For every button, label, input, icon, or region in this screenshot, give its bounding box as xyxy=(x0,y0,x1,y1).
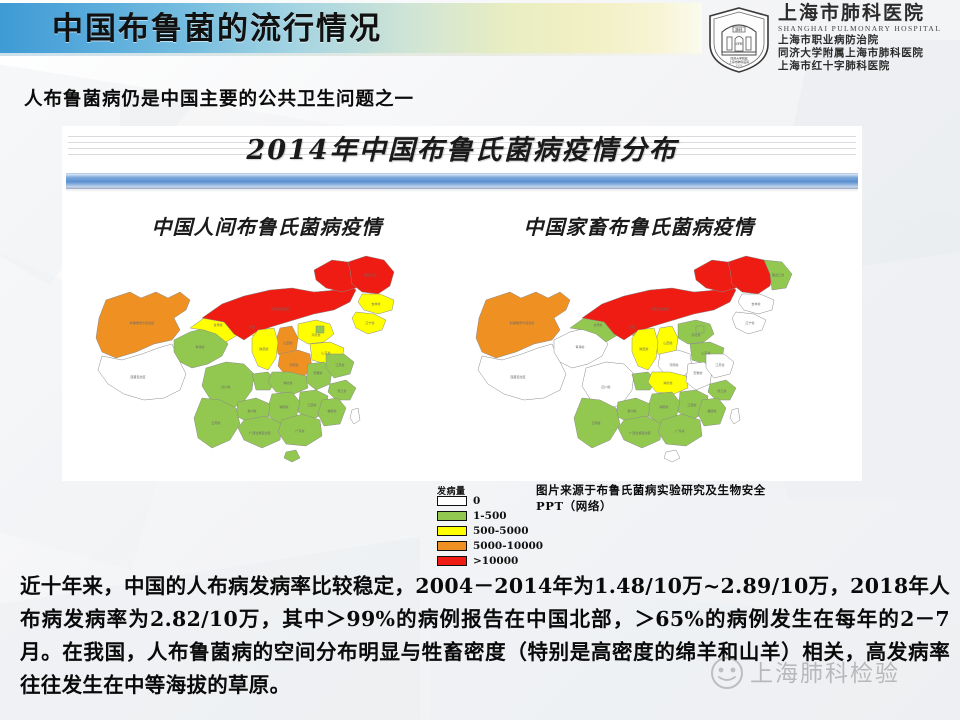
map-caption-human: 中国人间布鲁氏菌病疫情 xyxy=(102,212,432,242)
svg-text:甘肃省: 甘肃省 xyxy=(593,322,602,327)
china-map-human-svg: 新疆维吾尔自治区 西藏自治区 青海省 甘肃省 宁夏 内蒙古自治区 黑龙江省 吉林… xyxy=(94,248,464,463)
svg-text:内蒙古自治区: 内蒙古自治区 xyxy=(271,306,290,311)
legend-row: 0 xyxy=(437,495,547,508)
svg-text:江西省: 江西省 xyxy=(687,402,696,407)
region-hainan xyxy=(664,450,680,462)
svg-text:辽宁省: 辽宁省 xyxy=(745,320,754,325)
svg-text:福建省: 福建省 xyxy=(327,408,336,413)
svg-text:湖北省: 湖北省 xyxy=(663,380,672,385)
svg-text:江苏省: 江苏省 xyxy=(715,362,724,367)
svg-text:新疆维吾尔自治区: 新疆维吾尔自治区 xyxy=(130,320,155,325)
svg-text:湖南省: 湖南省 xyxy=(659,404,668,409)
svg-text:吉林省: 吉林省 xyxy=(371,301,380,306)
legend-swatch-4 xyxy=(437,556,467,566)
svg-text:宁夏: 宁夏 xyxy=(629,324,635,329)
svg-text:陕西省: 陕西省 xyxy=(639,346,648,351)
svg-text:广西壮族自治区: 广西壮族自治区 xyxy=(629,430,651,435)
china-map-livestock: 新疆维吾尔自治区 西藏自治区 青海省 甘肃省 宁夏 内蒙古自治区 黑龙江省 吉林… xyxy=(474,248,844,463)
svg-text:上海市肺科医院: 上海市肺科医院 xyxy=(729,59,749,64)
china-map-human: 新疆维吾尔自治区 西藏自治区 青海省 甘肃省 宁夏 内蒙古自治区 黑龙江省 吉林… xyxy=(94,248,464,463)
svg-text:山东省: 山东省 xyxy=(321,350,330,355)
svg-text:辽宁省: 辽宁省 xyxy=(365,320,374,325)
svg-text:湖北省: 湖北省 xyxy=(283,380,292,385)
shield-building-emblem-icon: 肺科 SPH 同济大学附属 上海市肺科医院 1933 xyxy=(706,6,772,74)
svg-text:安徽省: 安徽省 xyxy=(693,370,702,375)
svg-text:1933: 1933 xyxy=(736,65,743,68)
legend-label-0: 0 xyxy=(473,495,480,508)
svg-text:山西省: 山西省 xyxy=(283,340,292,345)
svg-text:河北省: 河北省 xyxy=(311,332,320,337)
svg-text:河南省: 河南省 xyxy=(289,362,298,367)
legend-swatch-0 xyxy=(437,496,467,506)
svg-text:陕西省: 陕西省 xyxy=(259,346,268,351)
hospital-logo: 肺科 SPH 同济大学附属 上海市肺科医院 1933 上海市肺科医院 SHANG… xyxy=(700,2,958,76)
svg-text:广东省: 广东省 xyxy=(675,428,684,433)
region-taiwan xyxy=(730,408,740,424)
legend-swatch-3 xyxy=(437,541,467,551)
svg-text:云南省: 云南省 xyxy=(211,420,220,425)
legend-swatch-2 xyxy=(437,526,467,536)
svg-text:甘肃省: 甘肃省 xyxy=(213,322,222,327)
svg-text:河南省: 河南省 xyxy=(669,362,678,367)
svg-text:河北省: 河北省 xyxy=(691,332,700,337)
svg-text:吉林省: 吉林省 xyxy=(751,301,760,306)
svg-text:贵州省: 贵州省 xyxy=(627,408,636,413)
source-note-line-1: 图片来源于布鲁氏菌病实验研究及生物安全 xyxy=(536,482,896,498)
logo-alias-1: 上海市职业病防治院 xyxy=(778,34,958,47)
svg-text:新疆维吾尔自治区: 新疆维吾尔自治区 xyxy=(510,320,535,325)
svg-text:广东省: 广东省 xyxy=(295,428,304,433)
svg-text:黑龙江省: 黑龙江省 xyxy=(772,272,784,277)
figure-card: 2014年中国布鲁氏菌病疫情分布 中国人间布鲁氏菌病疫情 中国家畜布鲁氏菌病疫情 xyxy=(62,126,862,481)
svg-text:山西省: 山西省 xyxy=(663,340,672,345)
legend-swatch-1 xyxy=(437,511,467,521)
svg-text:江西省: 江西省 xyxy=(307,402,316,407)
legend-label-2: 500-5000 xyxy=(473,525,529,538)
svg-text:江苏省: 江苏省 xyxy=(335,362,344,367)
map-caption-livestock: 中国家畜布鲁氏菌病疫情 xyxy=(474,212,804,242)
legend-label-3: 5000-10000 xyxy=(473,540,543,553)
svg-text:云南省: 云南省 xyxy=(591,420,600,425)
figure-title: 2014年中国布鲁氏菌病疫情分布 xyxy=(62,131,862,171)
svg-text:山东省: 山东省 xyxy=(701,350,710,355)
legend-row: 500-5000 xyxy=(437,525,547,538)
slide-subtitle: 人布鲁菌病仍是中国主要的公共卫生问题之一 xyxy=(24,87,644,113)
svg-text:贵州省: 贵州省 xyxy=(247,408,256,413)
legend-row: >10000 xyxy=(437,555,547,568)
svg-text:黑龙江省: 黑龙江省 xyxy=(364,272,376,277)
body-paragraph: 近十年来，中国的人布病发病率比较稳定，2004－2014年为1.48/10万~2… xyxy=(20,570,950,715)
svg-text:广西壮族自治区: 广西壮族自治区 xyxy=(249,430,271,435)
china-map-livestock-svg: 新疆维吾尔自治区 西藏自治区 青海省 甘肃省 宁夏 内蒙古自治区 黑龙江省 吉林… xyxy=(474,248,844,463)
svg-text:青海省: 青海省 xyxy=(575,344,584,349)
header-underline xyxy=(0,53,702,56)
logo-hospital-name-cn: 上海市肺科医院 xyxy=(778,3,958,23)
legend-label-1: 1-500 xyxy=(473,510,507,523)
svg-text:四川省: 四川省 xyxy=(221,384,230,389)
page-title: 中国布鲁菌的流行情况 xyxy=(52,8,612,50)
svg-text:肺科: 肺科 xyxy=(735,27,743,32)
source-note-line-2: PPT（网络） xyxy=(536,498,896,514)
slide-canvas: 中国布鲁菌的流行情况 肺科 SPH 同济大学附属 上海市肺科医院 1933 上海… xyxy=(0,0,960,720)
svg-text:安徽省: 安徽省 xyxy=(313,370,322,375)
logo-hospital-name-en: SHANGHAI PULMONARY HOSPITAL xyxy=(778,23,958,34)
figure-divider-shadow xyxy=(66,187,858,192)
svg-text:湖南省: 湖南省 xyxy=(279,404,288,409)
svg-text:SPH: SPH xyxy=(735,42,742,46)
legend-label-4: >10000 xyxy=(473,555,518,568)
svg-text:福建省: 福建省 xyxy=(707,408,716,413)
region-hainan xyxy=(284,450,300,462)
svg-text:宁夏: 宁夏 xyxy=(249,324,255,329)
map-legend: 发病量 0 1-500 500-5000 5000-10000 >10000 xyxy=(437,484,547,562)
svg-text:西藏自治区: 西藏自治区 xyxy=(130,374,145,379)
svg-text:四川省: 四川省 xyxy=(601,384,610,389)
logo-alias-3: 上海市红十字肺科医院 xyxy=(778,60,958,73)
region-beijing xyxy=(316,326,324,333)
legend-row: 5000-10000 xyxy=(437,540,547,553)
svg-text:内蒙古自治区: 内蒙古自治区 xyxy=(651,306,670,311)
svg-text:浙江省: 浙江省 xyxy=(717,388,726,393)
legend-row: 1-500 xyxy=(437,510,547,523)
figure-source-note: 图片来源于布鲁氏菌病实验研究及生物安全 PPT（网络） xyxy=(536,482,896,514)
svg-text:浙江省: 浙江省 xyxy=(337,388,346,393)
svg-text:西藏自治区: 西藏自治区 xyxy=(510,374,525,379)
region-beijing xyxy=(696,326,704,333)
svg-text:青海省: 青海省 xyxy=(195,344,204,349)
logo-alias-2: 同济大学附属上海市肺科医院 xyxy=(778,47,958,60)
region-taiwan xyxy=(350,408,360,424)
